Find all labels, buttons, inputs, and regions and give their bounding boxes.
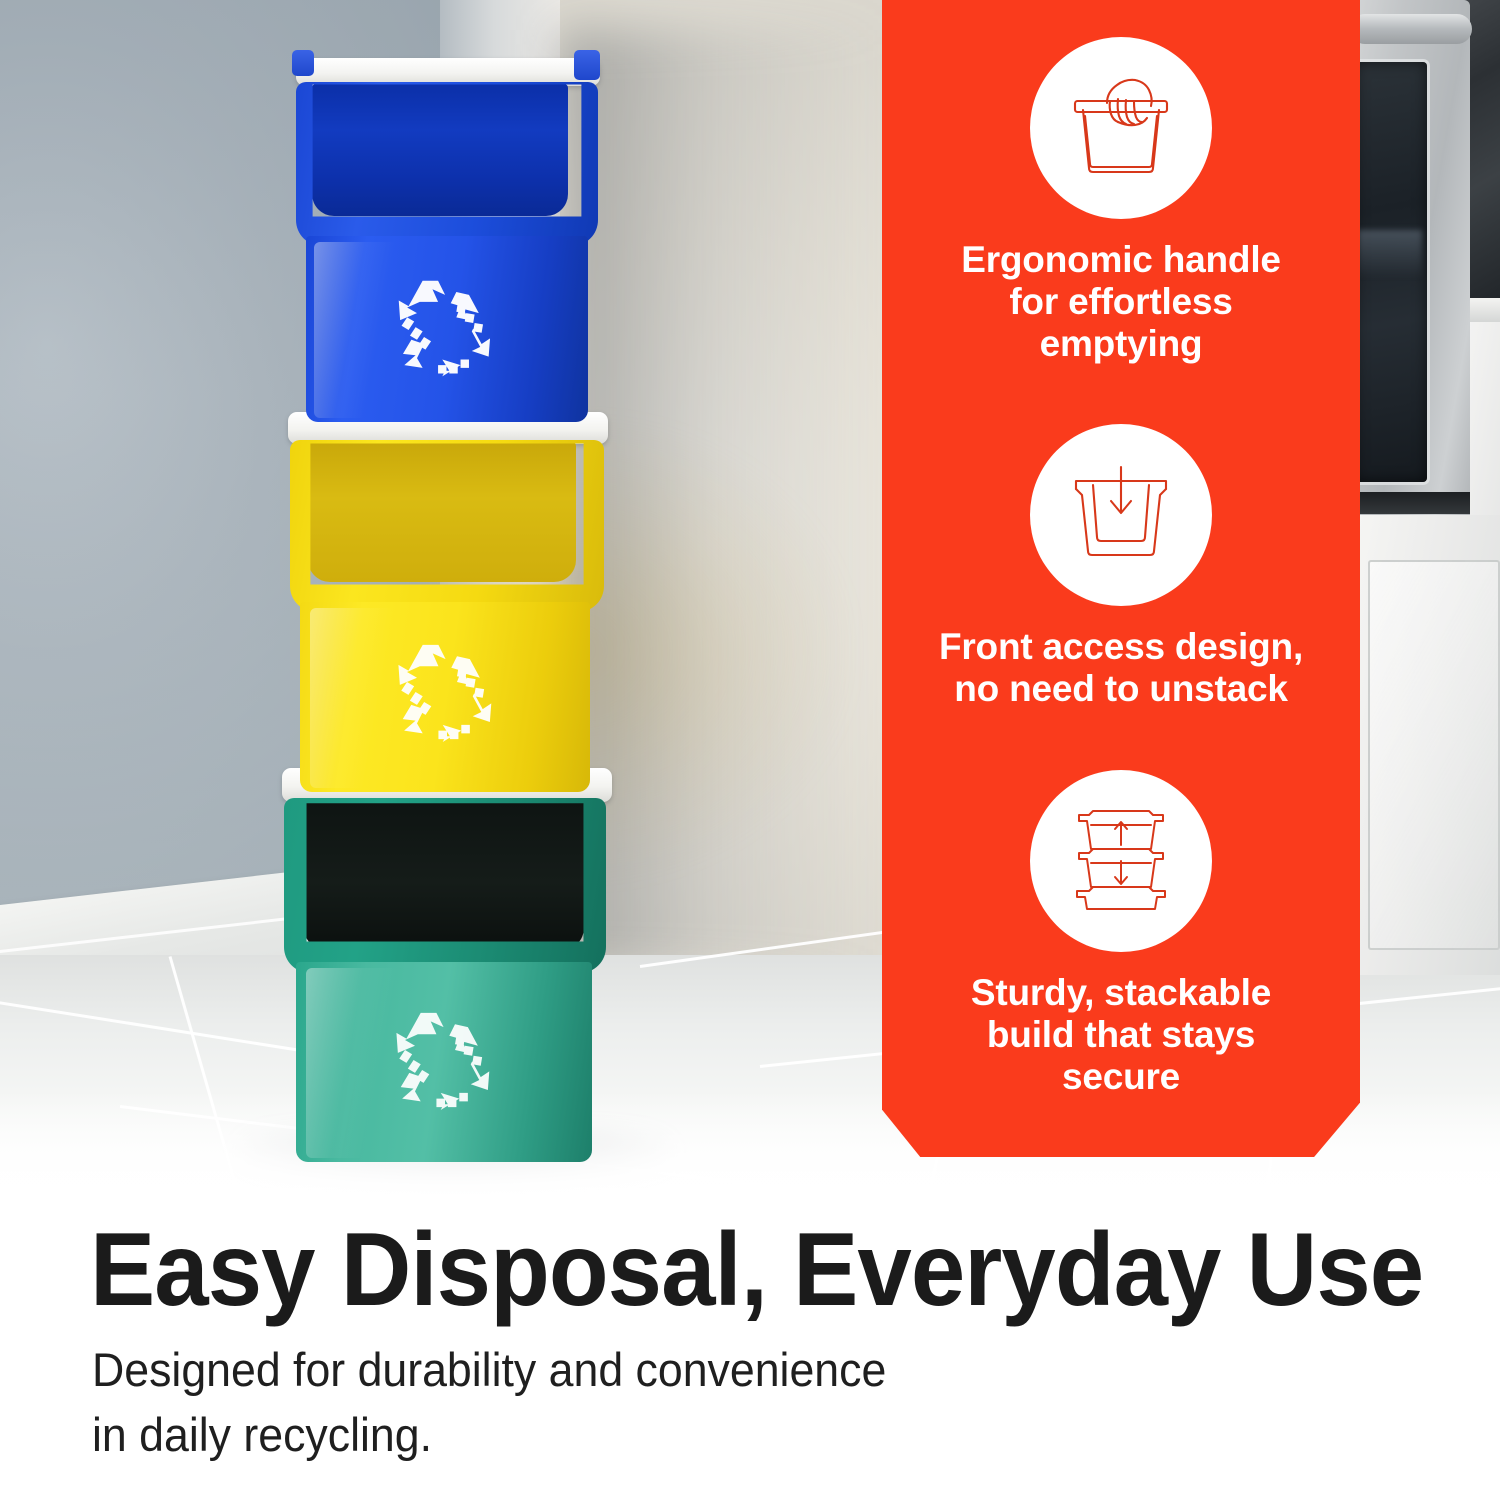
feature-2-icon-circle (1030, 424, 1212, 606)
feature-2-label: Front access design, no need to unstack (882, 626, 1360, 710)
stacked-bins-arrows-icon (1063, 805, 1179, 917)
cabinet-panel (1368, 560, 1500, 950)
feature-item-1: Ergonomic handle for effortless emptying (882, 37, 1360, 366)
oven-handle (1350, 14, 1472, 44)
feature-3-icon-circle (1030, 770, 1212, 952)
oven-lower-gap (1352, 492, 1470, 514)
headline: Easy Disposal, Everyday Use (90, 1218, 1340, 1322)
blue-bin-lid (296, 58, 600, 86)
product-feature-image: Ergonomic handle for effortless emptying (0, 0, 1500, 1500)
green-bin-opening (304, 800, 584, 950)
bin-with-down-arrow-icon (1063, 463, 1179, 567)
feature-3-label: Sturdy, stackable build that stays secur… (882, 972, 1360, 1099)
feature-item-3: Sturdy, stackable build that stays secur… (882, 770, 1360, 1099)
subheadline-line-1: Designed for durability and convenience (92, 1338, 1137, 1403)
yellow-bin-opening (308, 442, 576, 582)
yellow-bin-recycling-symbol (372, 642, 522, 762)
subheadline-line-2: in daily recycling. (92, 1403, 1137, 1468)
oven-glass-reflection (1358, 230, 1422, 278)
blue-bin-recycling-symbol (374, 278, 519, 396)
green-bin-recycling-symbol (370, 1010, 520, 1130)
blue-bin-opening (312, 84, 568, 216)
blue-bin-tab-right (574, 50, 600, 80)
wall-cast-shadow (560, 30, 890, 970)
subheadline: Designed for durability and convenience … (92, 1338, 1137, 1468)
feature-item-2: Front access design, no need to unstack (882, 424, 1360, 710)
feature-panel: Ergonomic handle for effortless emptying (882, 0, 1360, 1157)
hand-gripping-bin-handle-icon (1063, 76, 1179, 180)
feature-1-label: Ergonomic handle for effortless emptying (882, 239, 1360, 366)
blue-bin-tab-left (292, 50, 314, 76)
feature-1-icon-circle (1030, 37, 1212, 219)
